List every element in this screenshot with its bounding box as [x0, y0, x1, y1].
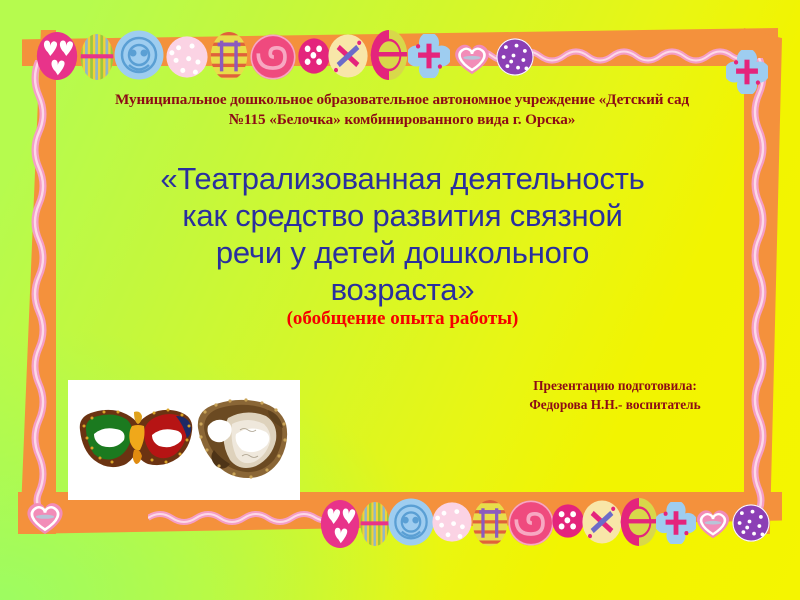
organization-name-line1: Муниципальное дошкольное образовательное… — [52, 90, 752, 110]
ornament-egg-yellow-lines-b — [472, 500, 508, 546]
ornament-ball-cream-cross-b — [582, 500, 622, 544]
slide-title: «Театрализованная деятельность как средс… — [95, 160, 710, 308]
ornament-ball-pink-spiral — [250, 34, 296, 80]
presentation-slide: Муниципальное дошкольное образовательное… — [0, 0, 800, 600]
organization-name: Муниципальное дошкольное образовательное… — [52, 90, 752, 130]
mask-colored — [80, 409, 192, 468]
ornament-ball-pink-dots-b — [432, 502, 472, 542]
ornament-ball-magenta-dots-b — [552, 504, 584, 538]
ornament-ball-cream-cross — [328, 34, 368, 78]
ornament-egg-pink-green-b — [620, 498, 658, 546]
author-credit: Презентацию подготовила: Федорова Н.Н.- … — [490, 376, 740, 414]
ornament-egg-pink-hearts-b — [320, 500, 360, 548]
slide-title-line4: возраста» — [95, 271, 710, 308]
slide-title-line3: речи у детей дошкольного — [95, 234, 710, 271]
slide-subtitle: (обобщение опыта работы) — [150, 307, 655, 330]
author-credit-line1: Презентацию подготовила: — [490, 376, 740, 395]
ornament-egg-striped-b — [360, 502, 390, 546]
carnival-masks-photo — [68, 380, 300, 500]
author-credit-line2: Федорова Н.Н.- воспитатель — [490, 395, 740, 414]
slide-title-line2: как средство развития связной — [95, 197, 710, 234]
organization-name-line2: №115 «Белочка» комбинированного вида г. … — [52, 110, 752, 130]
ornament-ball-blue-swirl — [114, 30, 164, 80]
ornament-egg-yellow-lines — [210, 32, 248, 80]
ornament-flower-blue-b — [656, 502, 696, 544]
ornament-heart-pink-left — [22, 496, 68, 536]
slide-title-line1: «Театрализованная деятельность — [95, 160, 710, 197]
ornament-ball-purple-dots — [496, 38, 534, 76]
ornament-flower-blue-right — [726, 50, 768, 94]
ornament-ball-pink-dots — [166, 36, 208, 78]
ornament-heart-pink-b — [692, 504, 734, 540]
ornament-ball-blue-swirl-b — [388, 498, 434, 546]
ornament-heart-pink — [450, 38, 494, 76]
ornament-ball-magenta-dots — [298, 38, 330, 74]
ornament-ball-pink-spiral-b — [508, 500, 554, 546]
frame-border-left — [20, 30, 56, 534]
ornament-flower-blue — [408, 34, 450, 78]
ornament-egg-pink-green — [370, 30, 408, 80]
ornament-ball-purple-dots-b — [732, 504, 770, 542]
carnival-masks-illustration — [68, 380, 300, 500]
ornament-egg-pink-hearts — [36, 32, 78, 80]
ornament-egg-striped-yellow — [80, 34, 114, 80]
